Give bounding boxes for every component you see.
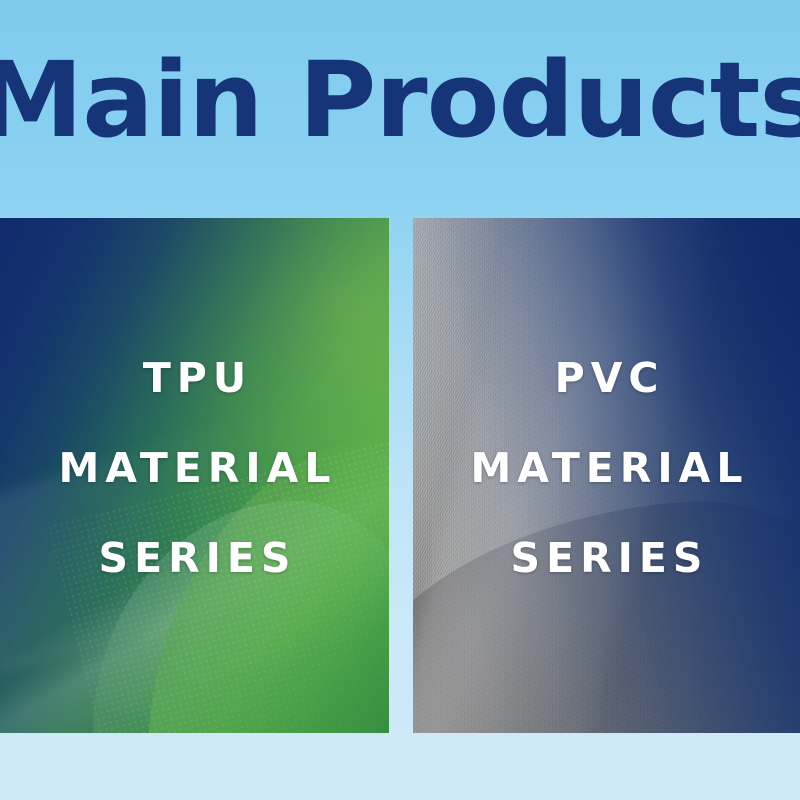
pvc-product-image	[413, 218, 800, 733]
pvc-corner-shadow	[587, 218, 800, 501]
tpu-product-image	[0, 218, 389, 733]
product-banner: Main Products TPU MATERIAL SERIES	[0, 0, 800, 800]
page-title: Main Products	[0, 48, 800, 152]
product-card-pvc[interactable]: PVC MATERIAL SERIES	[413, 218, 800, 733]
title-area: Main Products	[0, 0, 800, 200]
product-card-tpu[interactable]: TPU MATERIAL SERIES	[0, 218, 389, 733]
